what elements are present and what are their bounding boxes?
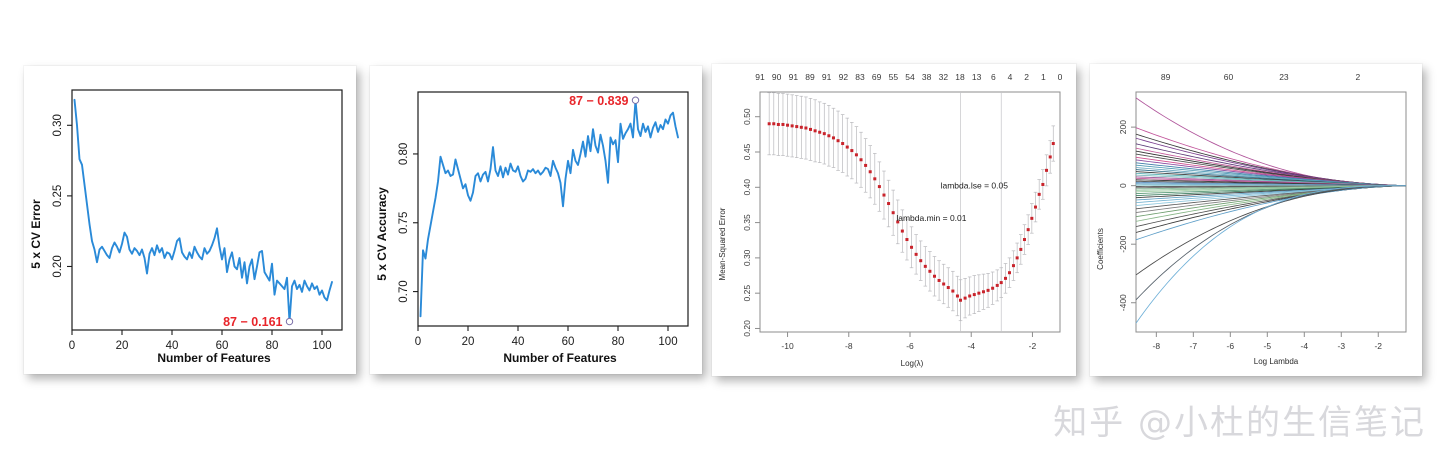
top-axis-label: 18 bbox=[955, 72, 965, 82]
top-axis-label: 2 bbox=[1356, 72, 1361, 82]
mse-point bbox=[832, 136, 835, 139]
y-tick-label: 0.35 bbox=[742, 214, 752, 231]
mse-point bbox=[837, 139, 840, 142]
x-tick-label: -2 bbox=[1029, 341, 1037, 351]
mse-point bbox=[1019, 248, 1022, 251]
y-tick-label: 0.20 bbox=[52, 255, 64, 277]
top-axis-label: 23 bbox=[1279, 72, 1289, 82]
mse-point bbox=[987, 289, 990, 292]
y-tick-label: 200 bbox=[1118, 120, 1128, 134]
cv-lambda-x-axis-title: Log(λ) bbox=[901, 359, 924, 368]
y-tick-label: 0 bbox=[1118, 183, 1128, 188]
cv-accuracy-y-axis-title: 5 x CV Accuracy bbox=[375, 187, 389, 281]
coefficient-path bbox=[1136, 186, 1406, 300]
cv-lambda-y-axis-title: Mean-Squared Error bbox=[718, 207, 727, 280]
x-tick-label: -8 bbox=[845, 341, 853, 351]
coef-path-x-axis-title: Log Lambda bbox=[1254, 357, 1299, 366]
panel-cv-error: 0204060801000.200.250.3087 − 0.161 5 x C… bbox=[24, 66, 356, 374]
mse-point bbox=[777, 123, 780, 126]
coef-path-plot: -8-7-6-5-4-3-22000-200-4008960232 Coeffi… bbox=[1090, 64, 1422, 376]
y-tick-label: 0.75 bbox=[398, 212, 410, 234]
cv-error-y-axis-title: 5 x CV Error bbox=[29, 199, 43, 269]
y-tick-label: 0.40 bbox=[742, 179, 752, 196]
x-tick-label: -2 bbox=[1374, 341, 1382, 351]
mse-point bbox=[887, 202, 890, 205]
mse-point bbox=[1049, 155, 1052, 158]
top-axis-label: 55 bbox=[889, 72, 899, 82]
optimum-label: 87 − 0.839 bbox=[569, 94, 628, 108]
x-tick-label: 20 bbox=[462, 336, 475, 348]
lambda-min-label: lambda.min = 0.01 bbox=[896, 213, 966, 223]
mse-point bbox=[809, 128, 812, 131]
x-tick-label: -3 bbox=[1337, 341, 1345, 351]
top-axis-label: 91 bbox=[755, 72, 765, 82]
x-tick-label: 0 bbox=[69, 340, 75, 352]
mse-point bbox=[882, 194, 885, 197]
y-tick-label: -400 bbox=[1118, 294, 1128, 311]
mse-point bbox=[860, 158, 863, 161]
top-axis-label: 6 bbox=[991, 72, 996, 82]
mse-point bbox=[827, 134, 830, 137]
x-tick-label: -4 bbox=[967, 341, 975, 351]
mse-point bbox=[841, 142, 844, 145]
mse-point bbox=[1023, 238, 1026, 241]
x-tick-label: -6 bbox=[1227, 341, 1235, 351]
mse-point bbox=[800, 126, 803, 129]
y-tick-label: 0.70 bbox=[398, 280, 410, 302]
mse-point bbox=[901, 230, 904, 233]
mse-point bbox=[1045, 169, 1048, 172]
x-tick-label: 60 bbox=[562, 336, 575, 348]
mse-point bbox=[869, 170, 872, 173]
y-tick-label: 0.30 bbox=[742, 249, 752, 266]
mse-point bbox=[1034, 206, 1037, 209]
lambda-1se-label: lambda.lse = 0.05 bbox=[941, 181, 1009, 191]
top-axis-label: 13 bbox=[972, 72, 982, 82]
figure-board: 0204060801000.200.250.3087 − 0.161 5 x C… bbox=[0, 0, 1440, 468]
mse-point bbox=[956, 295, 959, 298]
mse-point bbox=[781, 123, 784, 126]
top-axis-label: 91 bbox=[789, 72, 799, 82]
optimum-marker bbox=[632, 97, 638, 103]
x-tick-label: -4 bbox=[1301, 341, 1309, 351]
y-tick-label: 0.30 bbox=[52, 114, 64, 136]
mse-point bbox=[968, 295, 971, 298]
mse-point bbox=[795, 125, 798, 128]
y-tick-label: 0.45 bbox=[742, 143, 752, 160]
mse-point bbox=[938, 279, 941, 282]
mse-point bbox=[850, 149, 853, 152]
mse-point bbox=[942, 283, 945, 286]
data-series-line bbox=[421, 100, 679, 316]
x-tick-label: 100 bbox=[312, 340, 331, 352]
mse-point bbox=[1016, 256, 1019, 259]
y-tick-label: -200 bbox=[1118, 235, 1128, 252]
mse-point bbox=[772, 122, 775, 125]
y-tick-label: 0.25 bbox=[52, 185, 64, 207]
mse-point bbox=[892, 211, 895, 214]
cv-error-x-axis-title: Number of Features bbox=[157, 351, 271, 365]
top-axis-label: 90 bbox=[772, 72, 782, 82]
mse-point bbox=[864, 164, 867, 167]
x-tick-label: -8 bbox=[1153, 341, 1161, 351]
plot-frame bbox=[72, 90, 342, 330]
mse-point bbox=[786, 124, 789, 127]
cv-lambda-plot: -10-8-6-4-20.200.250.300.350.400.450.509… bbox=[712, 64, 1076, 376]
mse-point bbox=[1030, 217, 1033, 220]
x-tick-label: 80 bbox=[612, 336, 625, 348]
x-tick-label: -6 bbox=[906, 341, 914, 351]
top-axis-label: 89 bbox=[1161, 72, 1171, 82]
top-axis-label: 2 bbox=[1024, 72, 1029, 82]
mse-point bbox=[823, 132, 826, 135]
mse-point bbox=[818, 131, 821, 134]
top-axis-label: 89 bbox=[805, 72, 815, 82]
mse-point bbox=[1000, 281, 1003, 284]
mse-point bbox=[905, 238, 908, 241]
top-axis-label: 32 bbox=[939, 72, 949, 82]
mse-point bbox=[951, 290, 954, 293]
mse-point bbox=[1004, 277, 1007, 280]
mse-point bbox=[1027, 228, 1030, 231]
mse-point bbox=[919, 259, 922, 262]
optimum-label: 87 − 0.161 bbox=[223, 315, 282, 329]
data-series-line bbox=[75, 100, 333, 322]
mse-point bbox=[910, 246, 913, 249]
y-tick-label: 0.50 bbox=[742, 108, 752, 125]
panel-cv-accuracy: 0204060801000.700.750.8087 − 0.839 5 x C… bbox=[370, 66, 702, 374]
mse-point bbox=[814, 129, 817, 132]
mse-point bbox=[1038, 193, 1041, 196]
x-tick-label: -10 bbox=[781, 341, 794, 351]
x-tick-label: -5 bbox=[1264, 341, 1272, 351]
mse-point bbox=[924, 265, 927, 268]
x-tick-label: -7 bbox=[1190, 341, 1198, 351]
top-axis-label: 38 bbox=[922, 72, 932, 82]
mse-point bbox=[973, 293, 976, 296]
top-axis-label: 60 bbox=[1224, 72, 1234, 82]
mse-point bbox=[996, 284, 999, 287]
mse-point bbox=[855, 153, 858, 156]
mse-point bbox=[947, 286, 950, 289]
mse-point bbox=[964, 297, 967, 300]
x-tick-label: 0 bbox=[415, 336, 421, 348]
top-axis-label: 0 bbox=[1058, 72, 1063, 82]
top-axis-label: 69 bbox=[872, 72, 882, 82]
cv-accuracy-plot: 0204060801000.700.750.8087 − 0.839 5 x C… bbox=[370, 66, 702, 374]
panel-coef-path: -8-7-6-5-4-3-22000-200-4008960232 Coeffi… bbox=[1090, 64, 1422, 376]
mse-point bbox=[873, 177, 876, 180]
x-tick-label: 20 bbox=[116, 340, 129, 352]
mse-point bbox=[959, 299, 962, 302]
mse-point bbox=[878, 185, 881, 188]
x-tick-label: 40 bbox=[512, 336, 525, 348]
optimum-marker bbox=[286, 318, 292, 324]
coef-path-y-axis-title: Coefficients bbox=[1096, 228, 1105, 270]
mse-point bbox=[991, 287, 994, 290]
top-axis-label: 92 bbox=[839, 72, 849, 82]
mse-point bbox=[928, 270, 931, 273]
mse-point bbox=[804, 127, 807, 130]
top-axis-label: 91 bbox=[822, 72, 832, 82]
plot-frame bbox=[1136, 92, 1406, 332]
watermark-zhihu: 知乎 @小杜的生信笔记 bbox=[1053, 395, 1426, 444]
mse-point bbox=[977, 292, 980, 295]
top-axis-label: 83 bbox=[855, 72, 865, 82]
mse-point bbox=[982, 290, 985, 293]
y-tick-label: 0.20 bbox=[742, 320, 752, 337]
mse-point bbox=[1052, 142, 1055, 145]
mse-point bbox=[1012, 264, 1015, 267]
panel-cv-lambda: -10-8-6-4-20.200.250.300.350.400.450.509… bbox=[712, 64, 1076, 376]
mse-point bbox=[791, 124, 794, 127]
mse-point bbox=[933, 275, 936, 278]
mse-point bbox=[915, 253, 918, 256]
cv-error-plot: 0204060801000.200.250.3087 − 0.161 5 x C… bbox=[24, 66, 356, 374]
top-axis-label: 4 bbox=[1008, 72, 1013, 82]
mse-point bbox=[1008, 271, 1011, 274]
y-tick-label: 0.25 bbox=[742, 285, 752, 302]
mse-point bbox=[768, 122, 771, 125]
mse-point bbox=[846, 146, 849, 149]
top-axis-label: 1 bbox=[1041, 72, 1046, 82]
x-tick-label: 100 bbox=[658, 336, 677, 348]
y-tick-label: 0.80 bbox=[398, 143, 410, 165]
cv-accuracy-x-axis-title: Number of Features bbox=[503, 351, 617, 365]
top-axis-label: 54 bbox=[905, 72, 915, 82]
mse-point bbox=[1041, 183, 1044, 186]
